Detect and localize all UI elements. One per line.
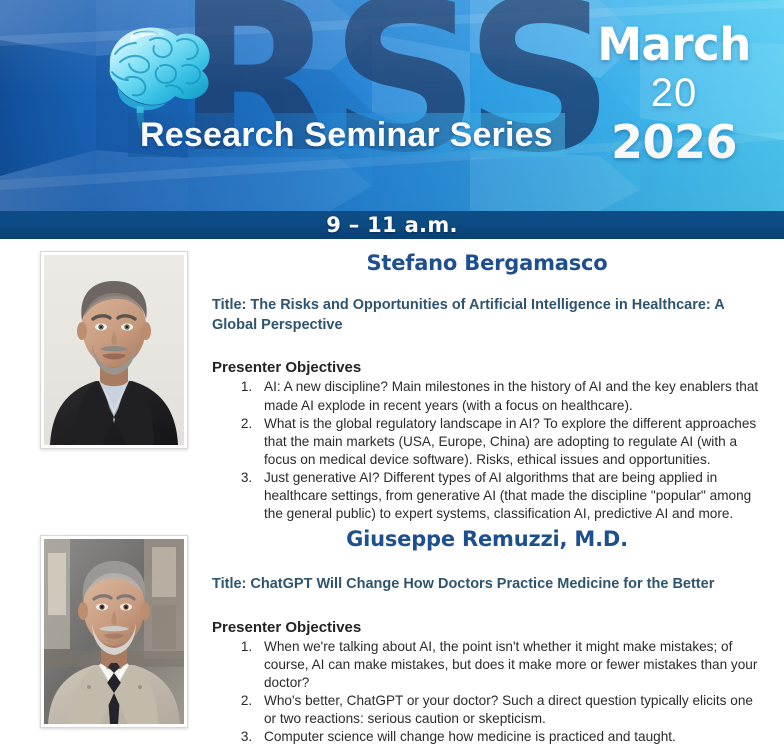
list-item: What is the global regulatory landscape … bbox=[256, 415, 762, 469]
portrait-giuseppe-remuzzi-image bbox=[44, 539, 184, 724]
presenter-name: Giuseppe Remuzzi, M.D. bbox=[212, 527, 762, 551]
portrait-stefano-bergamasco-image bbox=[44, 255, 184, 445]
list-item: When we're talking about AI, the point i… bbox=[256, 638, 762, 692]
presenter-name: Stefano Bergamasco bbox=[212, 251, 762, 275]
avatar bbox=[40, 251, 188, 449]
series-title: Research Seminar Series bbox=[140, 116, 553, 155]
session-block: Giuseppe Remuzzi, M.D. Title: ChatGPT Wi… bbox=[0, 527, 784, 746]
objectives-heading: Presenter Objectives bbox=[212, 359, 762, 376]
list-item: Computer science will change how medicin… bbox=[256, 728, 762, 746]
event-time-bar: 9 – 11 a.m. bbox=[0, 211, 784, 239]
talk-title: Title: ChatGPT Will Change How Doctors P… bbox=[212, 575, 762, 595]
list-item: Who's better, ChatGPT or your doctor? Su… bbox=[256, 692, 762, 728]
presenter-text-column: Stefano Bergamasco Title: The Risks and … bbox=[212, 251, 784, 523]
date-day: 20 bbox=[588, 69, 760, 118]
sessions-container: Stefano Bergamasco Title: The Risks and … bbox=[0, 239, 784, 746]
series-title-band: Research Seminar Series bbox=[128, 113, 565, 157]
list-item: Just generative AI? Different types of A… bbox=[256, 469, 762, 523]
presenter-text-column: Giuseppe Remuzzi, M.D. Title: ChatGPT Wi… bbox=[212, 527, 784, 746]
presenter-photo-column bbox=[0, 251, 212, 449]
header-banner: RSS bbox=[0, 0, 784, 211]
objectives-heading: Presenter Objectives bbox=[212, 619, 762, 636]
presenter-photo-column bbox=[0, 527, 212, 728]
talk-title: Title: The Risks and Opportunities of Ar… bbox=[212, 296, 762, 335]
event-time-text: 9 – 11 a.m. bbox=[326, 213, 458, 237]
session-block: Stefano Bergamasco Title: The Risks and … bbox=[0, 239, 784, 523]
avatar bbox=[40, 535, 188, 728]
event-date: March 20 2026 bbox=[588, 22, 760, 167]
objectives-list: When we're talking about AI, the point i… bbox=[212, 638, 762, 746]
date-year: 2026 bbox=[588, 118, 760, 168]
objectives-list: AI: A new discipline? Main milestones in… bbox=[212, 378, 762, 523]
date-month: March bbox=[588, 22, 760, 69]
list-item: AI: A new discipline? Main milestones in… bbox=[256, 378, 762, 414]
